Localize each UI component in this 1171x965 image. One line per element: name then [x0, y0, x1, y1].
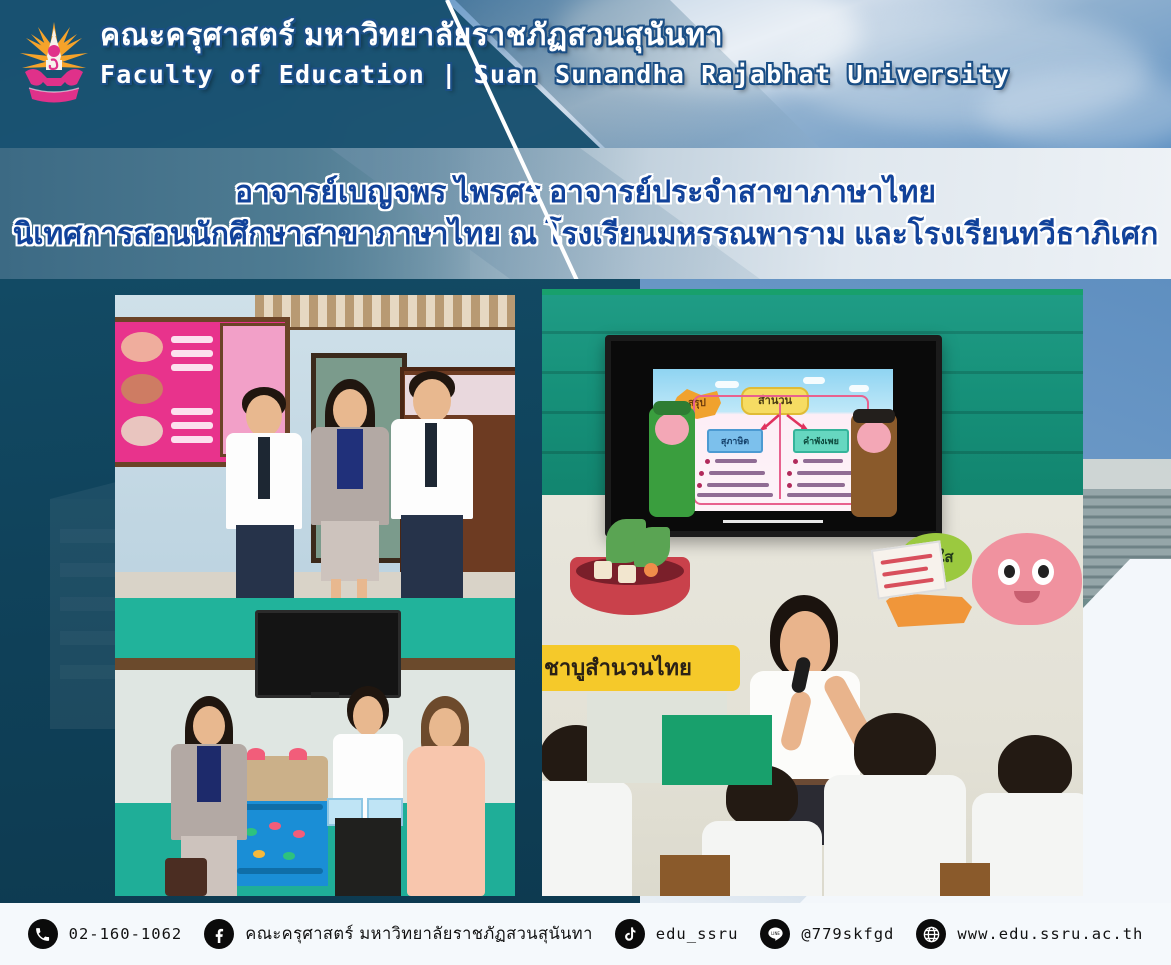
footer-item-website[interactable]: www.edu.ssru.ac.th	[916, 919, 1143, 949]
poster-root: คณะครุศาสตร์ มหาวิทยาลัยราชภัฏสวนสุนันทา…	[0, 0, 1171, 965]
person-center	[307, 379, 393, 598]
slide-right-box: คำพังเพย	[793, 429, 849, 453]
header-banner: คณะครุศาสตร์ มหาวิทยาลัยราชภัฏสวนสุนันทา…	[0, 0, 1171, 148]
person-student-teacher	[327, 686, 409, 896]
person-supervisor	[167, 696, 251, 896]
classroom-banner-text: ชาบูสำนวนไทย	[542, 645, 740, 691]
footer-tiktok-label: edu_ssru	[656, 925, 739, 943]
tiktok-icon	[615, 919, 645, 949]
tv-reflection	[723, 520, 823, 523]
svg-text:LINE: LINE	[771, 930, 780, 935]
hotpot-decor-icon	[560, 517, 700, 622]
classroom-banner: ชาบูสำนวนไทย	[542, 645, 740, 691]
ssru-royal-crest-icon	[17, 16, 91, 110]
octopus-decor-icon	[972, 533, 1082, 625]
presentation-tv: สำนวน สรุป	[605, 335, 942, 537]
footer-phone-label: 02-160-1062	[69, 925, 183, 943]
person-host-teacher	[403, 696, 489, 896]
globe-icon	[916, 919, 946, 949]
page-title: อาจารย์เบญจพร ไพรศร อาจารย์ประจำสาขาภาษา…	[0, 148, 1171, 279]
page-title-line-1: อาจารย์เบญจพร ไพรศร อาจารย์ประจำสาขาภาษา…	[235, 172, 936, 214]
footer-line-label: @779skfgd	[801, 925, 894, 943]
footer-website-label: www.edu.ssru.ac.th	[957, 925, 1143, 943]
dress	[407, 746, 485, 896]
photo-top-left[interactable]	[115, 295, 515, 598]
flash-card	[871, 540, 947, 599]
handbag	[165, 858, 207, 896]
photo-bottom-left[interactable]	[115, 598, 515, 896]
inner-top	[337, 429, 363, 489]
orange-word-sign	[886, 593, 972, 627]
footer-item-line[interactable]: LINE @779skfgd	[760, 919, 894, 949]
line-icon: LINE	[760, 919, 790, 949]
photo-right[interactable]: สำนวน สรุป	[542, 295, 1083, 896]
person-left	[220, 387, 310, 598]
footer-item-phone[interactable]: 02-160-1062	[28, 919, 183, 949]
person-right	[387, 371, 479, 598]
lesson-slide: สำนวน สรุป	[653, 369, 893, 511]
skirt	[335, 818, 401, 896]
wall-mounted-tv	[255, 610, 401, 698]
student-desk	[940, 863, 990, 896]
brand-title-english: Faculty of Education | Suan Sunandha Raj…	[100, 56, 980, 94]
slide-left-box: สุภาษิต	[707, 429, 763, 453]
footer-facebook-label: คณะครุศาสตร์ มหาวิทยาลัยราชภัฏสวนสุนันทา	[245, 921, 592, 947]
decorative-wall-screen	[255, 295, 515, 330]
phone-icon	[28, 919, 58, 949]
facebook-icon	[204, 919, 234, 949]
title-band: อาจารย์เบญจพร ไพรศร อาจารย์ประจำสาขาภาษา…	[0, 148, 1171, 279]
page-title-line-2: นิเทศการสอนนักศึกษาสาขาภาษาไทย ณ โรงเรีย…	[13, 214, 1159, 256]
footer-item-facebook[interactable]: คณะครุศาสตร์ มหาวิทยาลัยราชภัฏสวนสุนันทา	[204, 919, 592, 949]
contact-footer: 02-160-1062 คณะครุศาสตร์ มหาวิทยาลัยราชภ…	[0, 903, 1171, 965]
photo-collage-area: สำนวน สรุป	[0, 279, 1171, 903]
police-character-icon	[851, 413, 897, 517]
footer-item-tiktok[interactable]: edu_ssru	[615, 919, 739, 949]
soldier-character-icon	[649, 407, 695, 517]
brand-title-thai: คณะครุศาสตร์ มหาวิทยาลัยราชภัฏสวนสุนันทา	[100, 16, 980, 56]
student-desk	[660, 855, 730, 896]
green-cabinet	[662, 715, 772, 785]
brand-block: คณะครุศาสตร์ มหาวิทยาลัยราชภัฏสวนสุนันทา…	[100, 16, 980, 116]
